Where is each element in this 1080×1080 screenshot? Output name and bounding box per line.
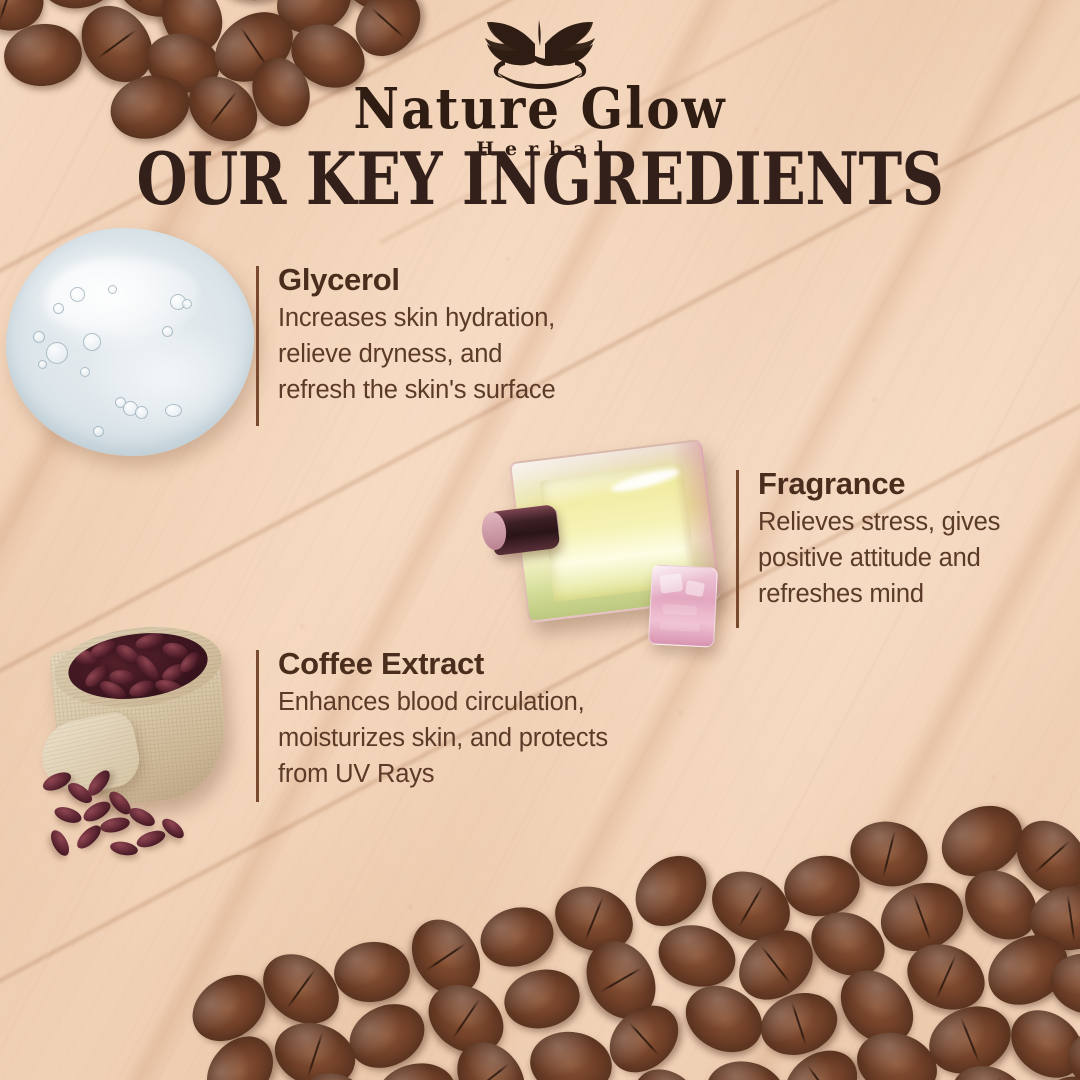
- divider-rule: [256, 266, 259, 426]
- coffee-bean-sack-icon: [40, 610, 260, 860]
- glycerol-gel-blob-icon: [6, 228, 254, 456]
- ingredient-glycerol: Glycerol Increases skin hydration, relie…: [256, 262, 555, 422]
- ingredient-description-glycerol: Increases skin hydration, relieve drynes…: [278, 300, 555, 409]
- perfume-bottle-icon: [500, 438, 750, 678]
- ingredient-title-fragrance: Fragrance: [758, 466, 1000, 502]
- ingredient-title-coffee-extract: Coffee Extract: [278, 646, 608, 682]
- ingredient-description-fragrance: Relieves stress, gives positive attitude…: [758, 504, 1000, 613]
- ingredient-description-coffee-extract: Enhances blood circulation, moisturizes …: [278, 684, 608, 793]
- brand-name: Nature Glow: [330, 81, 750, 137]
- perfume-cap-icon: [648, 564, 718, 647]
- ingredients-poster: Nature Glow Herbal OUR KEY INGREDIENTS G…: [0, 0, 1080, 1080]
- page-title: OUR KEY INGREDIENTS: [38, 137, 1042, 221]
- ingredient-title-glycerol: Glycerol: [278, 262, 555, 298]
- ingredient-fragrance: Fragrance Relieves stress, gives positiv…: [736, 466, 1000, 624]
- ingredient-coffee-extract: Coffee Extract Enhances blood circulatio…: [256, 646, 608, 798]
- bottom-coffee-beans-cluster: [150, 830, 1080, 1080]
- divider-rule: [256, 650, 259, 802]
- divider-rule: [736, 470, 739, 628]
